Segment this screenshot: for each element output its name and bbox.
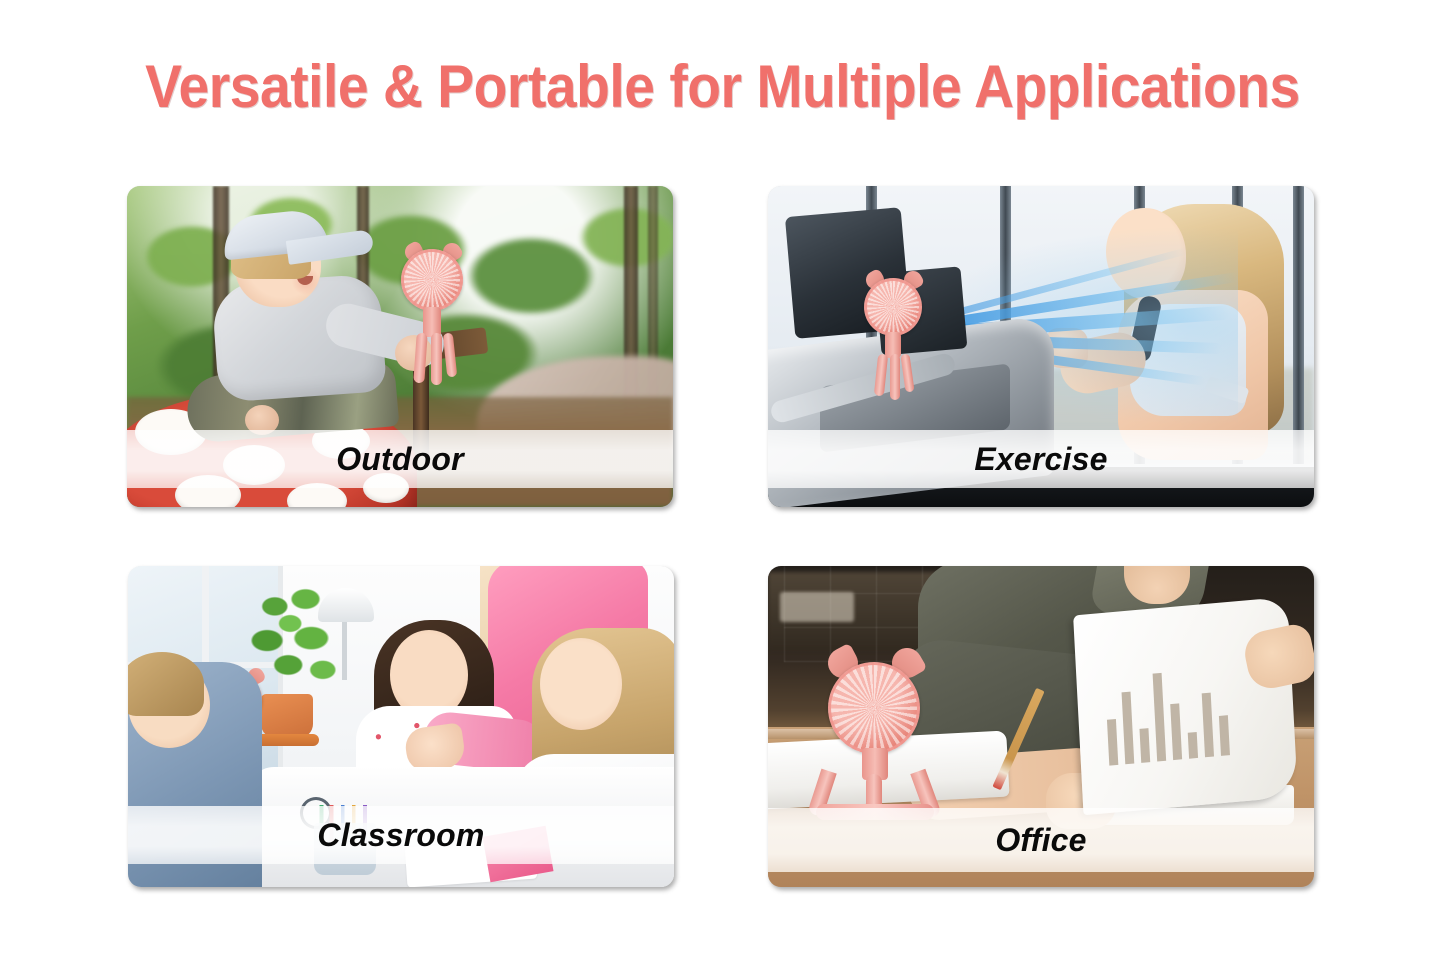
exercise-scene-image — [768, 186, 1314, 507]
application-card-exercise[interactable]: Exercise — [768, 186, 1314, 507]
shelf-object — [780, 592, 854, 622]
mushroom-spot — [363, 473, 409, 503]
report-bar — [1107, 719, 1118, 766]
fan-tripod-leg — [431, 333, 442, 385]
student-head — [540, 638, 622, 730]
application-cards-grid: Outdoor — [127, 186, 1314, 886]
student-boy-hair — [128, 652, 204, 716]
fan-tripod-crossbar — [816, 804, 934, 820]
report-bar — [1219, 715, 1230, 756]
application-card-office[interactable]: Office — [768, 566, 1314, 887]
report-bar — [1139, 728, 1150, 763]
fan-tripod-leg — [443, 333, 458, 378]
page-title: Versatile & Portable for Multiple Applic… — [58, 52, 1387, 121]
report-bar-marks — [1099, 634, 1245, 766]
report-bar — [1170, 703, 1182, 760]
office-scene-image — [768, 566, 1314, 887]
portable-fan-product — [810, 662, 960, 820]
pen-cup — [314, 823, 376, 875]
fan-head — [828, 662, 920, 754]
report-bar — [1122, 692, 1135, 765]
fan-tripod-leg — [413, 333, 427, 384]
outdoor-scene-image — [127, 186, 673, 507]
fan-head — [864, 278, 922, 336]
window-mullion — [1293, 186, 1304, 464]
fan-head — [401, 249, 463, 311]
fan-tripod-leg — [900, 354, 914, 393]
application-card-classroom[interactable]: Classroom — [128, 566, 674, 887]
portable-fan-product — [389, 249, 499, 389]
classroom-scene-image — [128, 566, 674, 887]
report-bar — [1202, 693, 1214, 758]
fan-tripod-leg — [890, 354, 900, 400]
mushroom-spot — [175, 475, 241, 507]
report-bar — [1188, 732, 1198, 759]
lamp-stem — [342, 618, 347, 680]
report-bar — [1153, 673, 1167, 762]
portable-fan-product — [856, 278, 966, 408]
mushroom-spot — [223, 445, 285, 485]
fan-tripod-leg — [874, 354, 888, 397]
child-hand — [245, 405, 279, 435]
application-card-outdoor[interactable]: Outdoor — [127, 186, 673, 507]
